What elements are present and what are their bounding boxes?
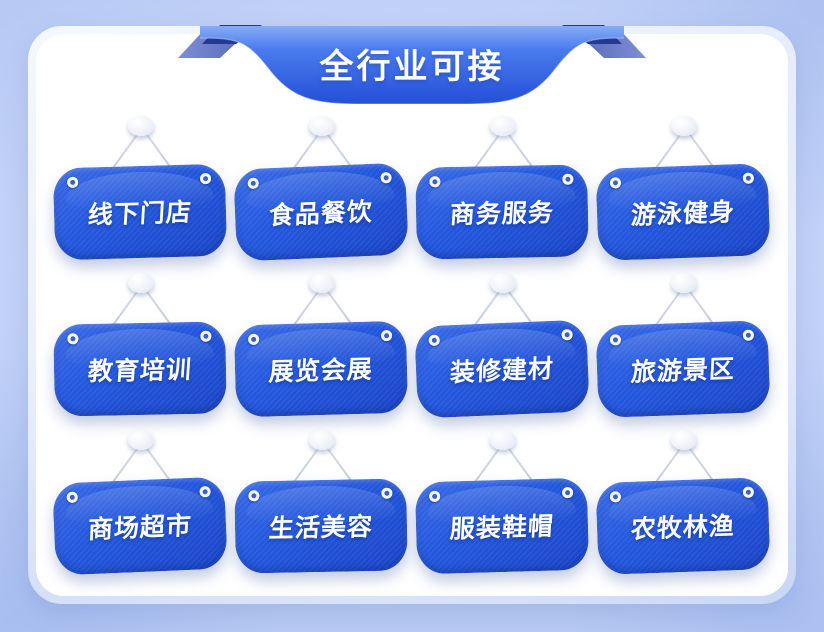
grommet-right-icon: [200, 173, 211, 184]
plaque[interactable]: 商场超市: [52, 476, 228, 575]
industry-tag-商场超市[interactable]: 商场超市: [50, 426, 231, 583]
hanger-knob-icon: [128, 116, 154, 136]
hanger-knob-icon: [128, 273, 154, 293]
plaque[interactable]: 农牧林渔: [595, 477, 770, 575]
grommet-left-icon: [610, 491, 621, 502]
industry-label: 商务服务: [449, 193, 555, 231]
grommet-right-icon: [200, 331, 211, 342]
industry-label: 展览会展: [268, 350, 374, 389]
grommet-left-icon: [67, 492, 78, 503]
grommet-right-icon: [562, 487, 573, 498]
industry-tag-旅游景区[interactable]: 旅游景区: [593, 269, 774, 426]
hanger-knob-icon: [128, 430, 154, 450]
grommet-left-icon: [429, 491, 440, 502]
grommet-left-icon: [429, 176, 440, 187]
plaque[interactable]: 展览会展: [234, 321, 409, 418]
grommet-right-icon: [381, 488, 392, 499]
industry-tag-展览会展[interactable]: 展览会展: [231, 269, 412, 426]
grommet-right-icon: [743, 330, 754, 341]
plaque[interactable]: 游泳健身: [595, 163, 770, 261]
grommet-right-icon: [562, 174, 573, 185]
industry-tag-农牧林渔[interactable]: 农牧林渔: [593, 426, 774, 583]
hanger-knob-icon: [671, 273, 697, 293]
industry-label: 生活美容: [268, 507, 374, 545]
industry-label: 服装鞋帽: [449, 507, 555, 546]
grommet-left-icon: [610, 177, 621, 188]
hanger-knob-icon: [490, 116, 516, 136]
grommet-right-icon: [561, 329, 572, 340]
grommet-right-icon: [199, 486, 210, 497]
grommet-left-icon: [248, 334, 259, 345]
industry-tag-教育培训[interactable]: 教育培训: [50, 269, 231, 426]
industry-label: 教育培训: [87, 350, 193, 388]
industry-label: 商场超市: [87, 506, 193, 546]
plaque[interactable]: 装修建材: [414, 319, 590, 418]
industry-tag-线下门店[interactable]: 线下门店: [50, 112, 231, 269]
grommet-left-icon: [429, 335, 440, 346]
grommet-left-icon: [248, 490, 259, 501]
hanger-knob-icon: [309, 273, 335, 293]
industry-tag-装修建材[interactable]: 装修建材: [412, 269, 593, 426]
grommet-right-icon: [381, 330, 392, 341]
hanger-knob-icon: [671, 116, 697, 136]
hanger-knob-icon: [490, 273, 516, 293]
industry-tag-食品餐饮[interactable]: 食品餐饮: [231, 112, 412, 269]
hanger-knob-icon: [309, 430, 335, 450]
poster-canvas: 全行业可接 线下门店 食品餐饮: [0, 0, 824, 632]
industry-tag-游泳健身[interactable]: 游泳健身: [593, 112, 774, 269]
grommet-left-icon: [610, 334, 621, 345]
plaque[interactable]: 教育培训: [53, 321, 227, 416]
grommet-right-icon: [380, 172, 391, 183]
hanger-knob-icon: [309, 116, 335, 136]
industry-label: 食品餐饮: [268, 192, 374, 232]
industry-label: 线下门店: [87, 193, 193, 232]
grommet-right-icon: [743, 487, 754, 498]
plaque[interactable]: 旅游景区: [595, 320, 770, 418]
grommet-left-icon: [67, 333, 78, 344]
plaque[interactable]: 食品餐饮: [233, 162, 409, 261]
grommet-left-icon: [248, 178, 259, 189]
industry-label: 农牧林渔: [630, 506, 736, 546]
plaque[interactable]: 服装鞋帽: [415, 478, 590, 575]
industry-label: 装修建材: [449, 349, 555, 389]
plaque[interactable]: 生活美容: [234, 478, 408, 573]
plaque[interactable]: 商务服务: [415, 164, 589, 259]
industry-tag-服装鞋帽[interactable]: 服装鞋帽: [412, 426, 593, 583]
industry-tag-生活美容[interactable]: 生活美容: [231, 426, 412, 583]
grommet-left-icon: [67, 177, 78, 188]
industry-label: 旅游景区: [630, 349, 736, 389]
hanger-knob-icon: [671, 430, 697, 450]
industry-grid: 线下门店 食品餐饮 商务服务: [50, 112, 774, 582]
header-ribbon: 全行业可接: [176, 24, 648, 116]
industry-tag-商务服务[interactable]: 商务服务: [412, 112, 593, 269]
page-title: 全行业可接: [176, 24, 648, 102]
plaque[interactable]: 线下门店: [53, 164, 228, 261]
industry-label: 游泳健身: [630, 192, 736, 232]
grommet-right-icon: [743, 173, 754, 184]
hanger-knob-icon: [490, 430, 516, 450]
